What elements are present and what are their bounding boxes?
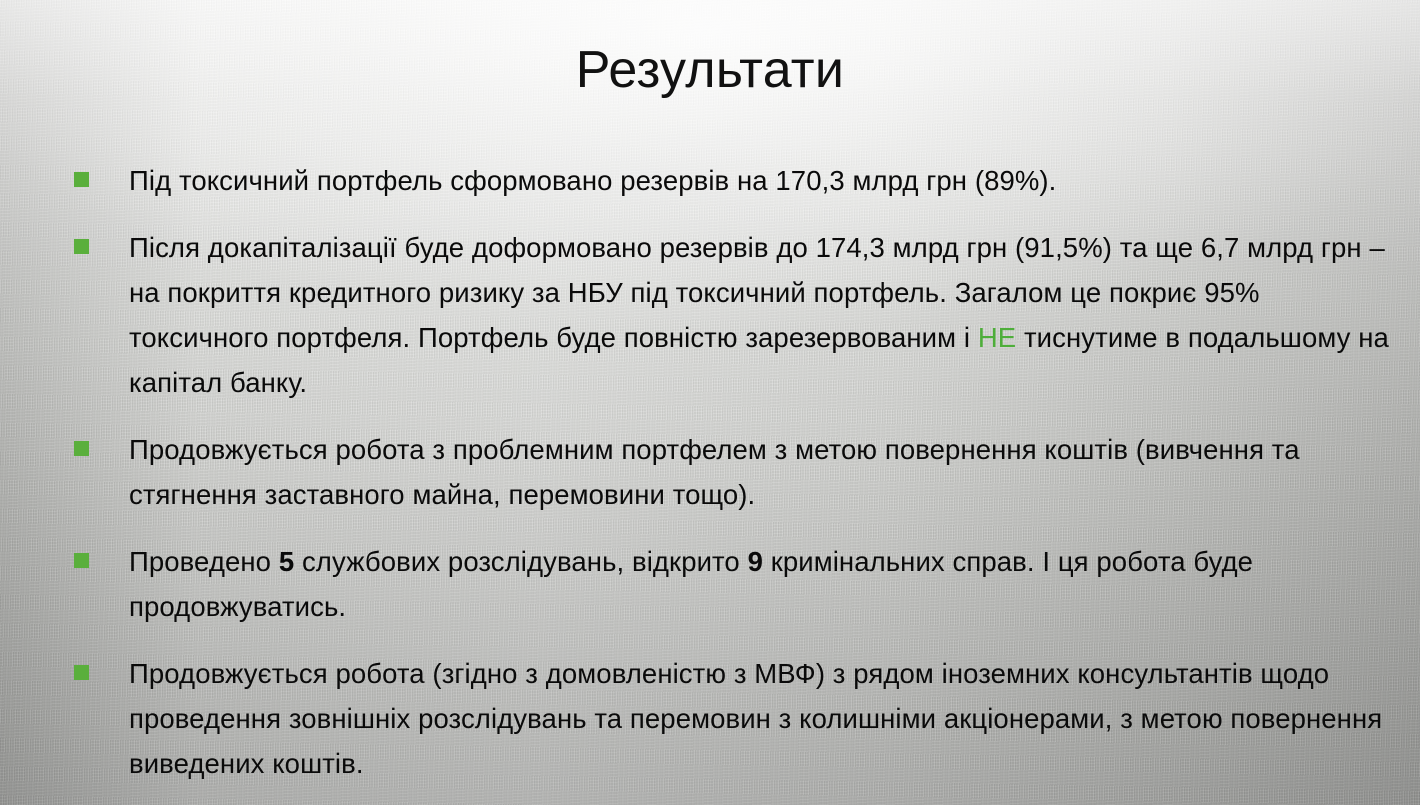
green-square-bullet-icon — [74, 441, 89, 456]
bullet-2-highlight: НЕ — [978, 322, 1016, 353]
green-square-bullet-icon — [74, 172, 89, 187]
bullet-2-text: Після докапіталізації буде доформовано р… — [129, 225, 1398, 405]
bullet-3-text: Продовжується робота з проблемним портфе… — [129, 427, 1398, 517]
bullet-5-text: Продовжується робота (згідно з домовлені… — [129, 651, 1398, 786]
bullet-4-part1: Проведено — [129, 546, 279, 577]
bullet-4-part2: службових розслідувань, відкрито — [294, 546, 747, 577]
green-square-bullet-icon — [74, 665, 89, 680]
bullet-list: Під токсичний портфель сформовано резерв… — [74, 158, 1398, 805]
green-square-bullet-icon — [74, 553, 89, 568]
green-square-bullet-icon — [74, 239, 89, 254]
list-item: Продовжується робота з проблемним портфе… — [74, 427, 1398, 517]
presentation-slide: Результати Під токсичний портфель сформо… — [0, 0, 1420, 805]
list-item: Проведено 5 службових розслідувань, відк… — [74, 539, 1398, 629]
list-item: Після докапіталізації буде доформовано р… — [74, 225, 1398, 405]
bullet-4-text: Проведено 5 службових розслідувань, відк… — [129, 539, 1398, 629]
bullet-4-bold-count-investigations: 5 — [279, 546, 294, 577]
list-item: Продовжується робота (згідно з домовлені… — [74, 651, 1398, 786]
bullet-1-text: Під токсичний портфель сформовано резерв… — [129, 158, 1398, 203]
bullet-4-bold-count-cases: 9 — [748, 546, 763, 577]
list-item: Під токсичний портфель сформовано резерв… — [74, 158, 1398, 203]
page-title: Результати — [0, 42, 1420, 99]
